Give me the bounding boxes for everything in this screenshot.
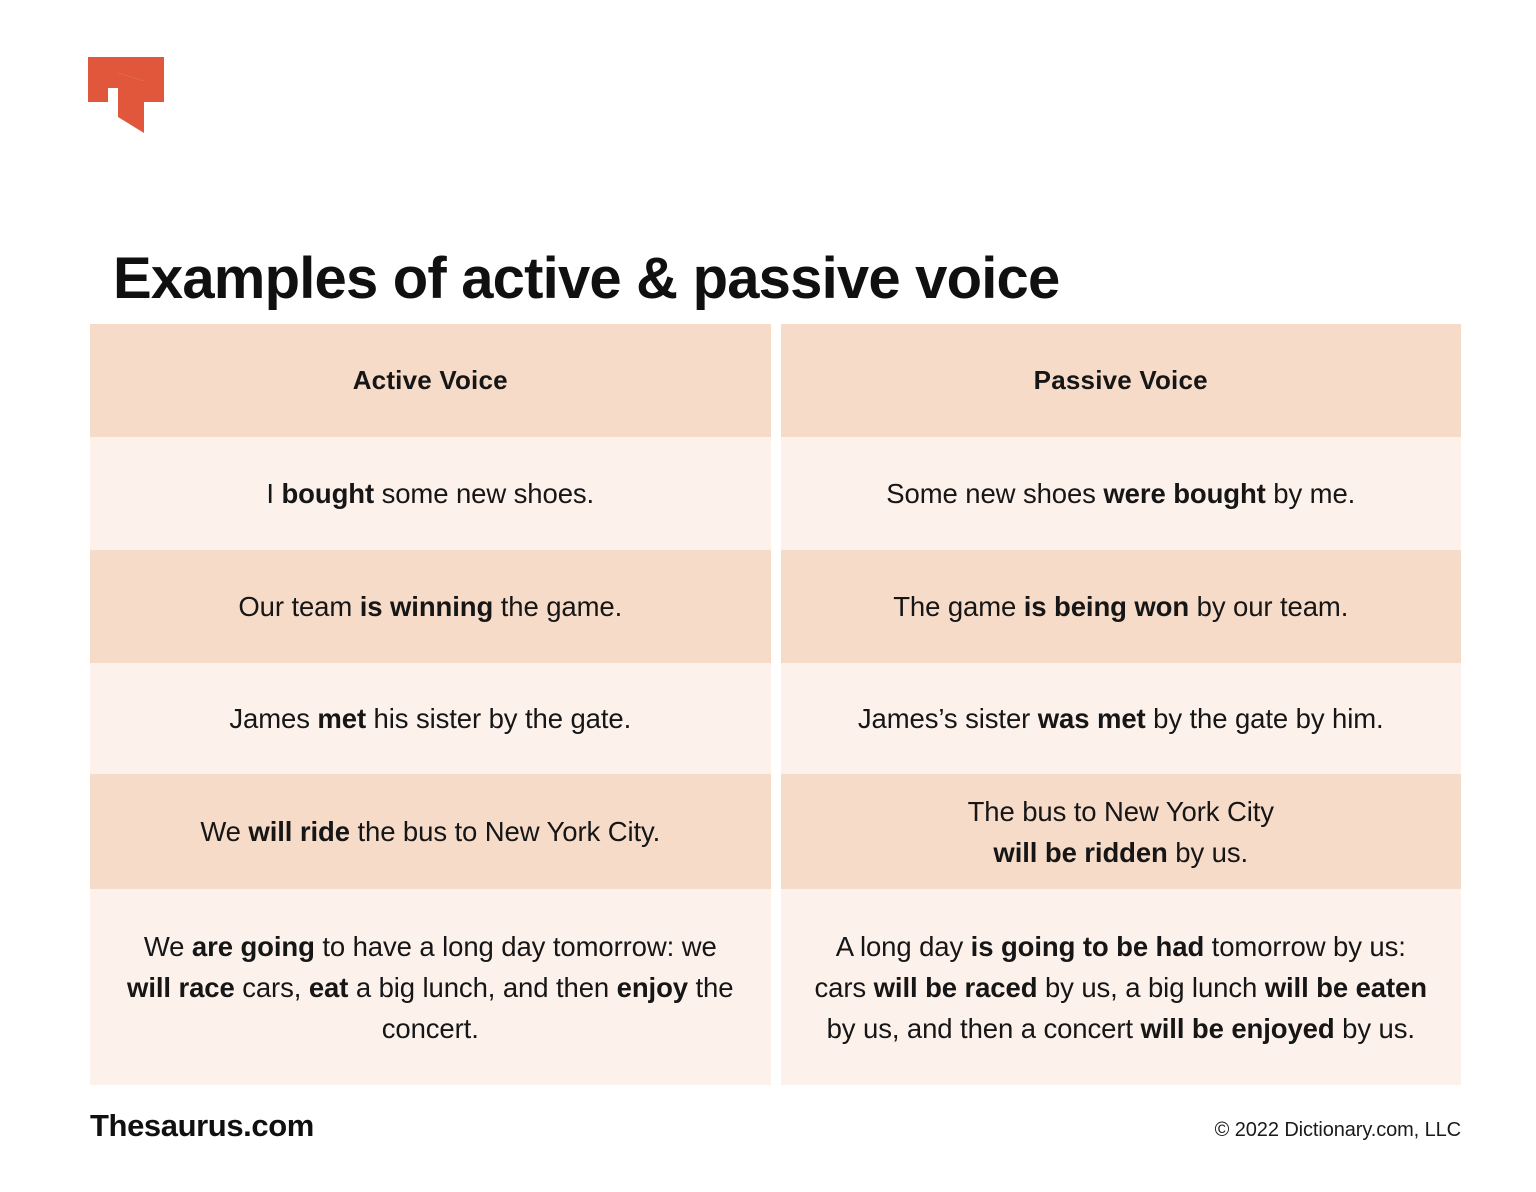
table-row: We will ride the bus to New York City. T… <box>90 774 1461 889</box>
active-voice-cell: James met his sister by the gate. <box>90 663 771 774</box>
thesaurus-t-logo-icon <box>86 55 166 135</box>
passive-voice-cell: A long day is going to be had tomorrow b… <box>781 889 1462 1085</box>
column-header-passive: Passive Voice <box>781 324 1462 437</box>
thesaurus-logo[interactable] <box>86 55 166 135</box>
passive-voice-cell: The game is being won by our team. <box>781 550 1462 663</box>
passive-voice-cell: Some new shoes were bought by me. <box>781 437 1462 550</box>
active-voice-cell: I bought some new shoes. <box>90 437 771 550</box>
active-voice-cell: We are going to have a long day tomorrow… <box>90 889 771 1085</box>
footer-brand[interactable]: Thesaurus.com <box>90 1108 314 1144</box>
passive-voice-cell: The bus to New York Citywill be ridden b… <box>781 774 1462 889</box>
table-row: James met his sister by the gate. James’… <box>90 663 1461 774</box>
table-header-row: Active Voice Passive Voice <box>90 324 1461 437</box>
table-row: I bought some new shoes. Some new shoes … <box>90 437 1461 550</box>
page-title: Examples of active & passive voice <box>113 242 1413 316</box>
voice-examples-table: Active Voice Passive Voice I bought some… <box>90 324 1461 1085</box>
footer: Thesaurus.com © 2022 Dictionary.com, LLC <box>90 1108 1461 1144</box>
passive-voice-cell: James’s sister was met by the gate by hi… <box>781 663 1462 774</box>
table-row: Our team is winning the game. The game i… <box>90 550 1461 663</box>
table-row: We are going to have a long day tomorrow… <box>90 889 1461 1085</box>
footer-copyright: © 2022 Dictionary.com, LLC <box>1215 1119 1461 1142</box>
active-voice-cell: We will ride the bus to New York City. <box>90 774 771 889</box>
column-header-active: Active Voice <box>90 324 771 437</box>
active-voice-cell: Our team is winning the game. <box>90 550 771 663</box>
